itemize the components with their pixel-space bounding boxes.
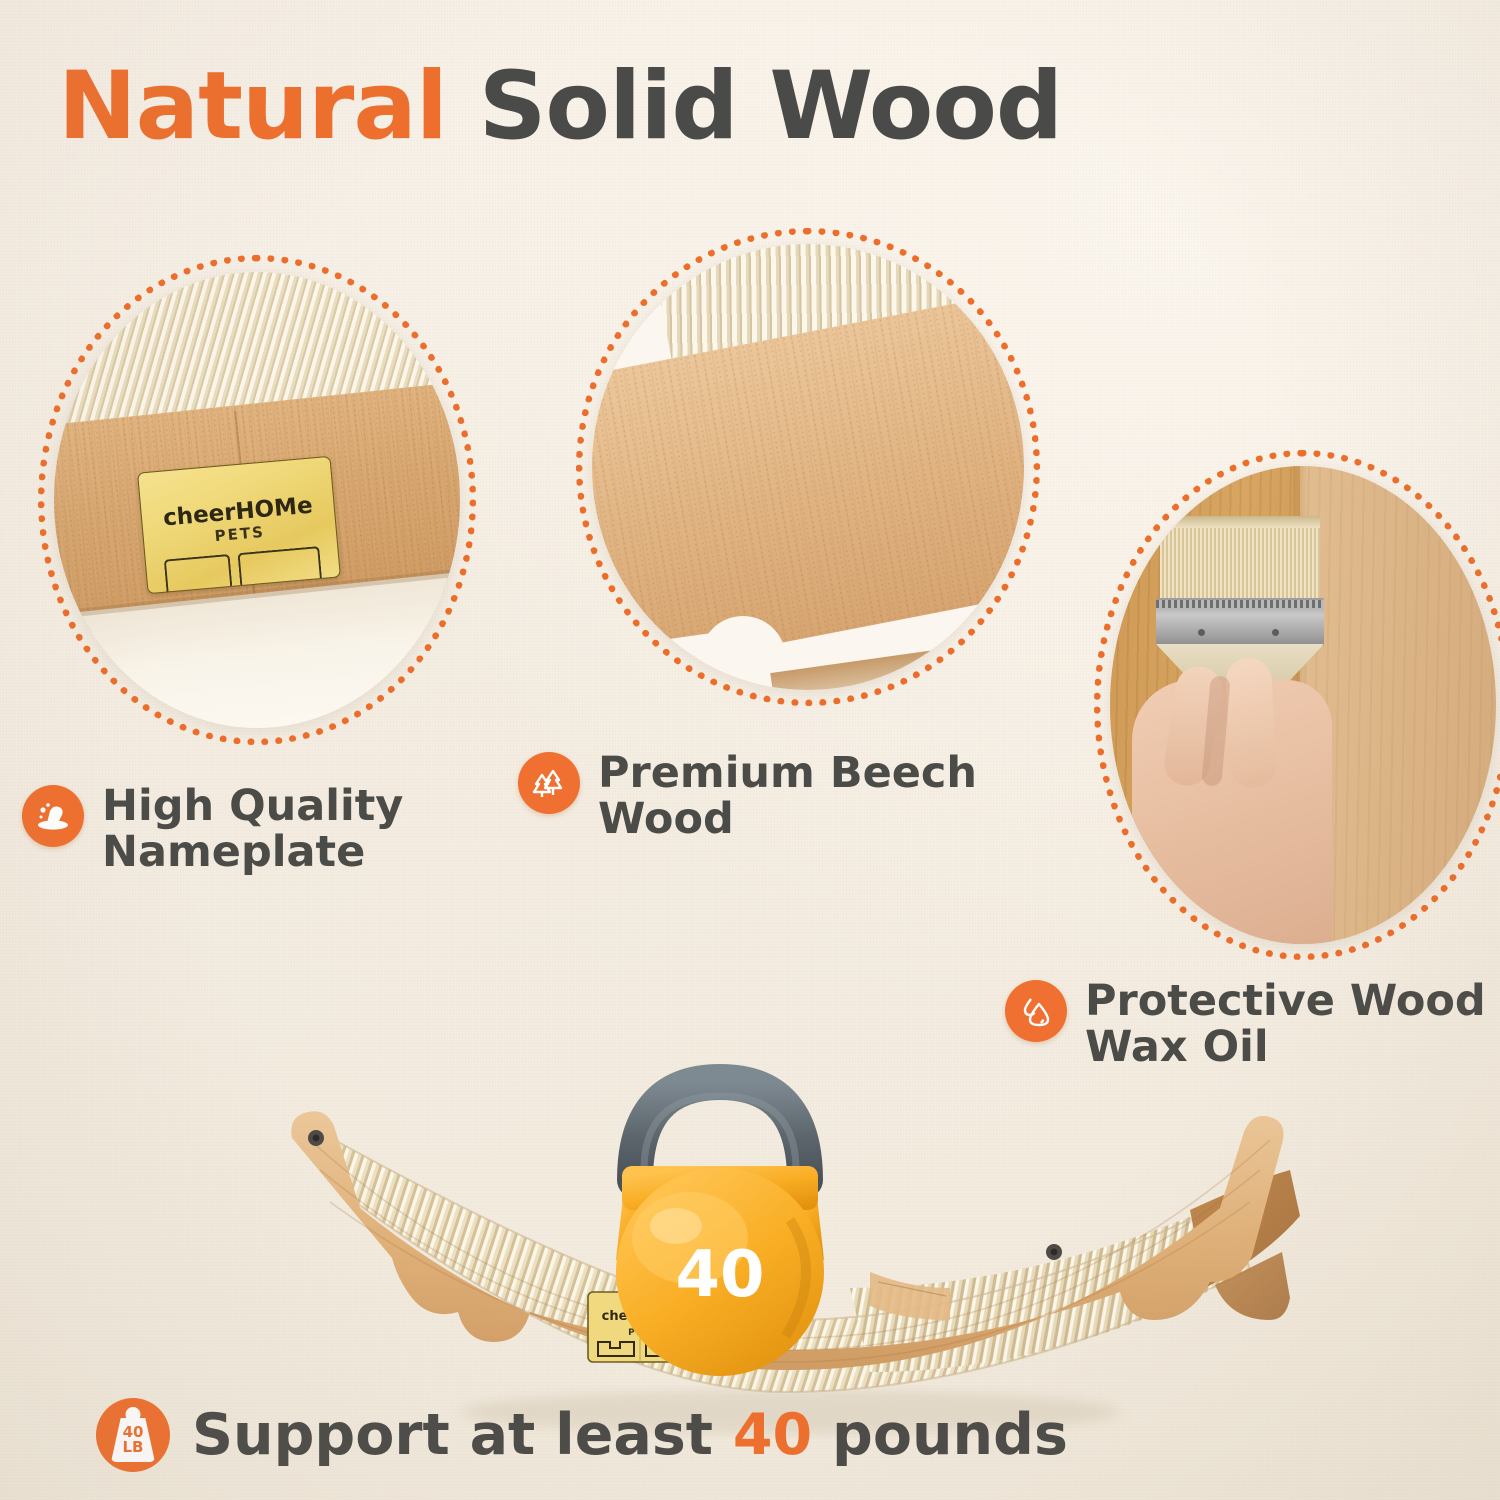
vignette-overlay bbox=[0, 0, 1500, 1500]
